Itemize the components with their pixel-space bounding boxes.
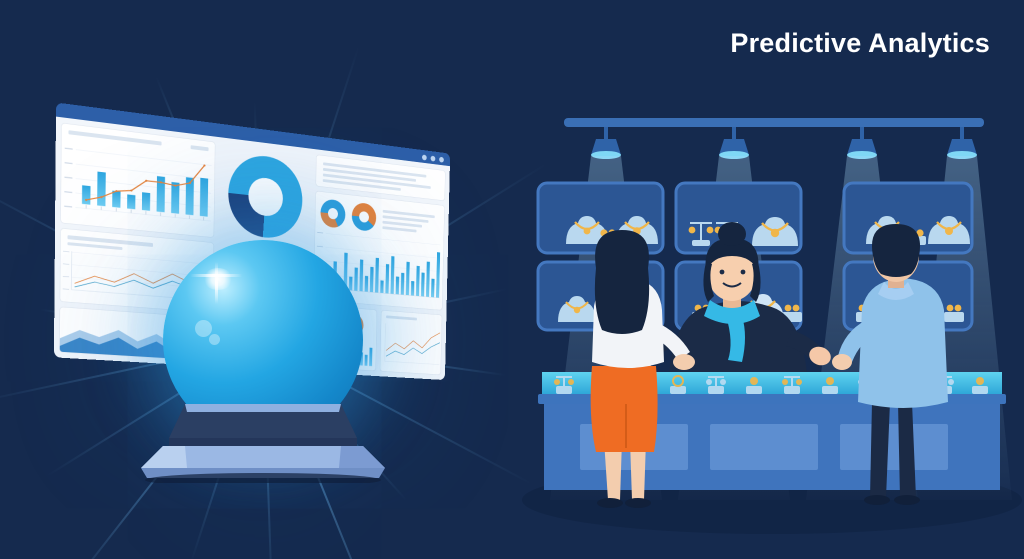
hair-bun <box>718 222 746 246</box>
page-title: Predictive Analytics <box>730 28 990 59</box>
bubble-icon <box>195 320 212 337</box>
hair <box>872 224 920 277</box>
skirt <box>591 366 658 452</box>
hair <box>595 230 649 334</box>
illustration-canvas: Predictive Analytics <box>0 0 1024 559</box>
donut-chart <box>321 199 346 229</box>
crystal-ball-pedestal <box>133 398 393 483</box>
shoe <box>894 495 920 505</box>
shoe <box>864 495 890 505</box>
sparkle-vertical-icon <box>215 262 218 304</box>
counter-panel <box>840 424 948 470</box>
card-combo-bar-line[interactable] <box>61 123 215 237</box>
track-light-rail <box>564 118 984 127</box>
light-ray <box>0 360 170 404</box>
shoe <box>625 498 651 508</box>
counter-panel <box>710 424 818 470</box>
bubble-icon <box>209 334 220 345</box>
shoe <box>597 498 623 508</box>
donut-chart <box>352 202 377 232</box>
crystal-ball-highlight <box>203 268 233 290</box>
donut-chart <box>228 152 303 241</box>
card-line-chart-small-2[interactable] <box>380 311 441 375</box>
window-dot-icon[interactable] <box>422 155 427 161</box>
window-controls[interactable] <box>422 155 444 163</box>
window-dot-icon[interactable] <box>431 156 436 162</box>
jewelry-store-scene <box>520 0 1024 559</box>
window-dot-icon[interactable] <box>439 157 444 163</box>
